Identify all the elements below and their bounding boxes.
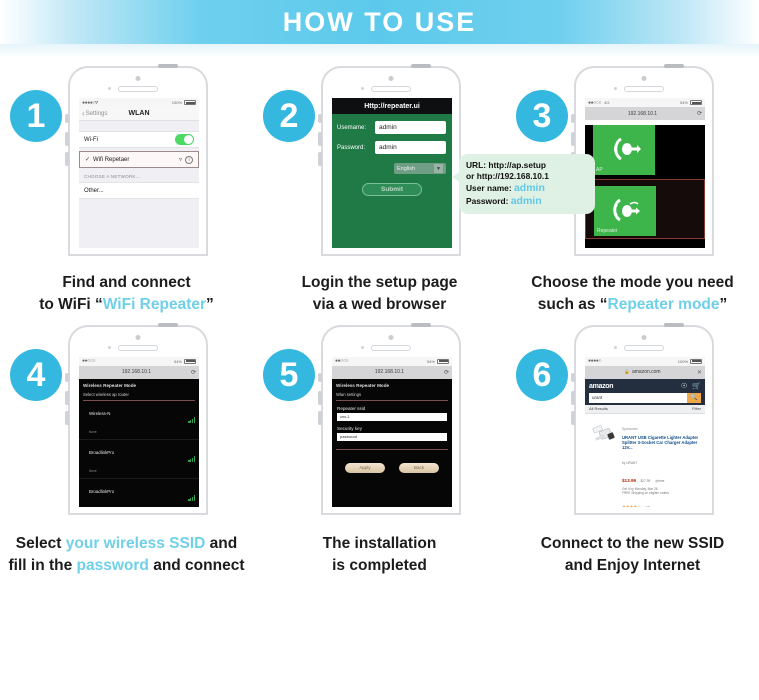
phone-frame-1: ●●●●○ ▿ 100% ‹ Settings WLAN	[68, 66, 208, 256]
amazon-search-bar: urant 🔍	[585, 394, 705, 405]
product-list-item[interactable]: Sponsored URANT USB Cigarette Lighter Ad…	[585, 414, 705, 507]
caption-line-1: Choose the mode you need	[506, 272, 759, 294]
mute-switch-icon	[65, 373, 69, 382]
repeater-icon	[608, 197, 642, 223]
caption-line-2: to WiFi “WiFi Repeater”	[0, 294, 253, 316]
step-2: 2 Http://repeater.ui Usemame:	[253, 58, 506, 317]
step-1: 1 ●●●●○ ▿ 100%	[0, 58, 253, 317]
front-camera-icon	[642, 335, 647, 340]
signal-bars-icon	[188, 417, 195, 423]
ssid-name: BroadlinkPro	[89, 450, 114, 455]
step-4-illustration: 4 ●●○○○ 54%	[0, 317, 253, 517]
prime-badge: √prime	[655, 479, 665, 483]
step-4-caption: Select your wireless SSID and fill in th…	[0, 517, 253, 578]
header-fade	[0, 44, 759, 58]
divider	[336, 449, 448, 450]
refresh-icon[interactable]: ⟳	[444, 369, 449, 376]
step-5-illustration: 5 ●●○○○ 54%	[253, 317, 506, 517]
volume-up-icon	[318, 132, 322, 146]
step-2-caption: Login the setup page via a wed browser	[253, 258, 506, 317]
volume-up-icon	[65, 391, 69, 405]
volume-down-icon	[65, 152, 69, 166]
browser-address-bar-3[interactable]: 192.168.10.1 ⟳	[585, 107, 705, 120]
power-button-icon	[664, 64, 684, 68]
step-2-number: 2	[263, 90, 315, 142]
earpiece-icon	[371, 86, 411, 92]
battery-icon	[437, 359, 449, 364]
status-bar-4: ●●○○○ 54%	[79, 357, 199, 366]
phone-screen-6: ●●●●○ 100% 🔒amazon.com ✕	[585, 357, 705, 507]
power-button-icon	[411, 323, 431, 327]
status-bar-3: ●●○○○ 4G 54%	[585, 98, 705, 107]
battery-icon	[690, 100, 702, 105]
battery-icon	[184, 100, 196, 105]
battery-icon	[690, 359, 702, 364]
phone-frame-5: ●●○○○ 54% 192.168.10.1 ⟳ Wireless Repeat…	[321, 325, 461, 515]
page-heading: Wireless Repeater Mode	[79, 379, 199, 390]
mute-switch-icon	[571, 114, 575, 123]
status-bar-6: ●●●●○ 100%	[585, 357, 705, 366]
power-button-icon	[664, 323, 684, 327]
earpiece-icon	[624, 345, 664, 351]
callout-password: Password: admin	[466, 195, 588, 208]
callout-password-value: admin	[511, 195, 542, 207]
wlan-body: Wi-Fi ✓ Wifi Repetaer ▿ i CHOOSE A NETWO…	[79, 121, 199, 248]
front-camera-icon	[136, 76, 141, 81]
amazon-logo: amazon	[589, 383, 613, 390]
browser-address-bar-4[interactable]: 192.168.10.1 ⟳	[79, 366, 199, 379]
caption-line-2: fill in the password and connect	[0, 555, 253, 577]
sensor-icon	[108, 346, 111, 349]
repeater-ssid-input[interactable]: cns-1	[337, 413, 447, 421]
step-1-number: 1	[10, 90, 62, 142]
step-6-number: 6	[516, 349, 568, 401]
caption-line-1: Login the setup page	[253, 272, 506, 294]
phone-screen-1: ●●●●○ ▿ 100% ‹ Settings WLAN	[79, 98, 199, 248]
repeater-ssid-label: Repeater ssid	[332, 401, 452, 413]
page-subheading: Wlan settings	[332, 390, 452, 400]
address-url: 192.168.10.1	[82, 369, 191, 375]
password-field-row: Password: admin	[332, 134, 452, 154]
refresh-icon[interactable]: ⟳	[697, 110, 702, 117]
caption-line-2: such as “Repeater mode”	[506, 294, 759, 316]
results-filter-bar: All Results Filter	[585, 405, 705, 414]
repeater-login-page: Http://repeater.ui Usemame: admin Passwo…	[332, 98, 452, 248]
phone-frame-2: Http://repeater.ui Usemame: admin Passwo…	[321, 66, 461, 256]
security-key-input[interactable]: password	[337, 433, 447, 441]
callout-username-value: admin	[514, 182, 545, 194]
mode-selected-band: Repeater	[585, 179, 705, 239]
wifi-status-icon: ▿	[95, 99, 98, 106]
carrier-label: 4G	[604, 100, 609, 105]
mode-card-repeater[interactable]: Repeater	[594, 186, 656, 236]
battery-percent: 54%	[174, 359, 182, 364]
power-button-icon	[411, 64, 431, 68]
selected-network-label: Wifi Repetaer	[93, 157, 179, 163]
review-count: (46)	[645, 505, 650, 507]
form-buttons: Apply Back	[332, 463, 452, 473]
car-charger-icon	[590, 421, 618, 447]
callout-url-1: URL: http://ap.setup	[466, 160, 588, 171]
battery-percent: 54%	[680, 100, 688, 105]
checkmark-icon: ✓	[85, 156, 90, 163]
phone-screen-2: Http://repeater.ui Usemame: admin Passwo…	[332, 98, 452, 248]
volume-down-icon	[318, 411, 322, 425]
mute-switch-icon	[571, 373, 575, 382]
step-5-caption: The installation is completed	[253, 517, 506, 578]
signal-dots-icon: ●●○○○	[335, 358, 348, 364]
front-camera-icon	[389, 76, 394, 81]
language-value: English	[397, 166, 415, 172]
rating-stars-icon: ★★★★☆	[622, 504, 641, 507]
step-4-number: 4	[10, 349, 62, 401]
address-url-text: amazon.com	[632, 369, 661, 375]
wifi-signal-icon: ▿	[179, 156, 182, 163]
earpiece-icon	[624, 86, 664, 92]
product-price: $13.99	[622, 478, 636, 483]
caption-line-1: Select your wireless SSID and	[0, 533, 253, 555]
product-brand: by URANT	[622, 461, 637, 465]
ssid-encryption: None	[89, 469, 97, 473]
step-1-illustration: 1 ●●●●○ ▿ 100%	[0, 58, 253, 258]
steps-row-1: 1 ●●●●○ ▿ 100%	[0, 58, 759, 317]
caption-line-1: Connect to the new SSID	[506, 533, 759, 555]
earpiece-icon	[118, 345, 158, 351]
list-item[interactable]: BroadlinkPro None	[79, 479, 199, 507]
sensor-icon	[361, 87, 364, 90]
caption-line-2: and Enjoy Internet	[506, 555, 759, 577]
status-bar-5: ●●○○○ 54%	[332, 357, 452, 366]
steps-grid: 1 ●●●●○ ▿ 100%	[0, 58, 759, 578]
search-icon[interactable]: 🔍	[687, 393, 701, 403]
volume-up-icon	[571, 132, 575, 146]
step-5: 5 ●●○○○ 54%	[253, 317, 506, 578]
username-field-row: Usemame: admin	[332, 114, 452, 134]
step-3-caption: Choose the mode you need such as “Repeat…	[506, 258, 759, 317]
login-url-title: Http://repeater.ui	[332, 98, 452, 114]
language-select[interactable]: English ▼	[394, 163, 446, 174]
front-camera-icon	[136, 335, 141, 340]
sensor-icon	[614, 87, 617, 90]
wifi-toggle-switch[interactable]	[175, 134, 194, 145]
address-url: 192.168.10.1	[588, 111, 697, 117]
security-key-label: Security key	[332, 421, 452, 433]
wlan-title: WLAN	[79, 110, 199, 117]
front-camera-icon	[389, 335, 394, 340]
credentials-callout: URL: http://ap.setup or http://192.168.1…	[459, 154, 595, 214]
page-heading: Wireless Repeater Mode	[332, 379, 452, 390]
caption-line-1: Find and connect	[0, 272, 253, 294]
access-point-icon	[607, 136, 641, 162]
back-button[interactable]: Back	[399, 463, 439, 473]
volume-up-icon	[65, 132, 69, 146]
phone-frame-6: ●●●●○ 100% 🔒amazon.com ✕	[574, 325, 714, 515]
phone-screen-3: ●●○○○ 4G 54% 192.168.10.1 ⟳	[585, 98, 705, 248]
refresh-icon[interactable]: ⟳	[191, 369, 196, 376]
steps-row-2: 4 ●●○○○ 54%	[0, 317, 759, 578]
status-bar-1: ●●●●○ ▿ 100%	[79, 98, 199, 107]
results-count-label: All Results	[589, 406, 608, 411]
sponsored-label: Sponsored	[622, 427, 637, 431]
wifi-label: Wi-Fi	[84, 137, 175, 143]
power-button-icon	[158, 323, 178, 327]
section-header: CHOOSE A NETWORK...	[79, 168, 199, 182]
sensor-icon	[361, 346, 364, 349]
signal-bars-icon	[188, 495, 195, 501]
volume-up-icon	[571, 391, 575, 405]
chevron-down-icon: ▼	[434, 164, 443, 173]
step-6-caption: Connect to the new SSID and Enjoy Intern…	[506, 517, 759, 578]
mute-switch-icon	[65, 114, 69, 123]
mode-chooser: AP	[585, 125, 705, 248]
mode-name: AP	[596, 167, 603, 173]
caption-line-2: via a wed browser	[253, 294, 506, 316]
volume-down-icon	[65, 411, 69, 425]
page-title: HOW TO USE	[283, 7, 477, 38]
mode-card-ap[interactable]: AP	[593, 125, 655, 175]
username-input[interactable]: admin	[375, 121, 446, 134]
other-label: Other...	[84, 188, 194, 194]
amazon-page: amazon ☉ 🛒 urant 🔍 A	[585, 379, 705, 507]
volume-up-icon	[318, 391, 322, 405]
username-label: Usemame:	[337, 125, 375, 131]
ssid-name: BroadlinkPro	[89, 489, 114, 494]
signal-dots-icon: ●●●●○	[82, 100, 95, 106]
sensor-icon	[108, 87, 111, 90]
volume-down-icon	[318, 152, 322, 166]
product-title[interactable]: URANT USB Cigarette Lighter Adapter Spli…	[622, 435, 701, 451]
phone-screen-5: ●●○○○ 54% 192.168.10.1 ⟳ Wireless Repeat…	[332, 357, 452, 507]
callout-url-2: or http://192.168.10.1	[466, 171, 588, 182]
address-url: 192.168.10.1	[335, 369, 444, 375]
wlan-navbar: ‹ Settings WLAN	[79, 107, 199, 121]
signal-dots-icon: ●●●●○	[588, 358, 601, 364]
power-button-icon	[158, 64, 178, 68]
battery-percent: 100%	[678, 359, 688, 364]
browser-address-bar-5[interactable]: 192.168.10.1 ⟳	[332, 366, 452, 379]
ssid-name: Wireless-N	[89, 411, 110, 416]
address-url: 🔒amazon.com	[588, 369, 697, 375]
step-3-number: 3	[516, 90, 568, 142]
caption-line-2: is completed	[253, 555, 506, 577]
callout-username: User name: admin	[466, 182, 588, 195]
page-subheading: Select wireless ap router	[79, 390, 199, 400]
lock-icon: 🔒	[624, 369, 630, 374]
mode-name: Repeater	[597, 228, 618, 234]
amazon-header: amazon ☉ 🛒	[585, 379, 705, 394]
close-icon[interactable]: ✕	[697, 369, 702, 376]
phone-screen-4: ●●○○○ 54% 192.168.10.1 ⟳ Wireless Repeat…	[79, 357, 199, 507]
product-thumbnail	[589, 417, 619, 451]
caption-line-1: The installation	[253, 533, 506, 555]
step-5-number: 5	[263, 349, 315, 401]
search-input[interactable]: urant	[589, 393, 687, 403]
page-header: HOW TO USE	[0, 0, 759, 44]
product-list-price: $27.99	[641, 479, 651, 483]
mute-switch-icon	[318, 114, 322, 123]
cart-icon[interactable]: 🛒	[692, 382, 701, 390]
step-6-illustration: 6 ●●●●○ 100%	[506, 317, 759, 517]
phone-frame-3: ●●○○○ 4G 54% 192.168.10.1 ⟳	[574, 66, 714, 256]
battery-icon	[184, 359, 196, 364]
list-item[interactable]: BroadlinkPro None	[79, 440, 199, 479]
phone-frame-4: ●●○○○ 54% 192.168.10.1 ⟳ Wireless Repeat…	[68, 325, 208, 515]
front-camera-icon	[642, 76, 647, 81]
mute-switch-icon	[318, 373, 322, 382]
ssid-list-page: Wireless Repeater Mode Select wireless a…	[79, 379, 199, 507]
sensor-icon	[614, 346, 617, 349]
ssid-encryption: None	[89, 430, 97, 434]
signal-dots-icon: ●●○○○	[588, 100, 601, 106]
battery-percent: 54%	[427, 359, 435, 364]
account-icon[interactable]: ☉	[681, 382, 687, 390]
signal-bars-icon	[188, 456, 195, 462]
password-label: Password:	[337, 145, 375, 151]
step-4: 4 ●●○○○ 54%	[0, 317, 253, 578]
wifi-toggle-row[interactable]: Wi-Fi	[79, 131, 199, 148]
apply-button[interactable]: Apply	[345, 463, 385, 473]
signal-dots-icon: ●●○○○	[82, 358, 95, 364]
selected-network-row[interactable]: ✓ Wifi Repetaer ▿ i	[79, 151, 199, 168]
ssid-list: Wireless-N None BroadlinkPro None	[79, 401, 199, 507]
browser-address-bar-6[interactable]: 🔒amazon.com ✕	[585, 366, 705, 379]
step-1-caption: Find and connect to WiFi “WiFi Repeater”	[0, 258, 253, 317]
wlan-settings-page: Wireless Repeater Mode Wlan settings Rep…	[332, 379, 452, 507]
submit-button[interactable]: Submit	[362, 183, 422, 196]
battery-percent: 100%	[172, 100, 182, 105]
list-item[interactable]: Wireless-N None	[79, 401, 199, 440]
filter-button[interactable]: Filter	[692, 406, 701, 411]
volume-down-icon	[571, 411, 575, 425]
other-network-row[interactable]: Other...	[79, 182, 199, 199]
password-input[interactable]: admin	[375, 141, 446, 154]
step-6: 6 ●●●●○ 100%	[506, 317, 759, 578]
earpiece-icon	[118, 86, 158, 92]
earpiece-icon	[371, 345, 411, 351]
info-icon[interactable]: i	[185, 156, 193, 164]
step-2-illustration: 2 Http://repeater.ui Usemame:	[253, 58, 506, 258]
